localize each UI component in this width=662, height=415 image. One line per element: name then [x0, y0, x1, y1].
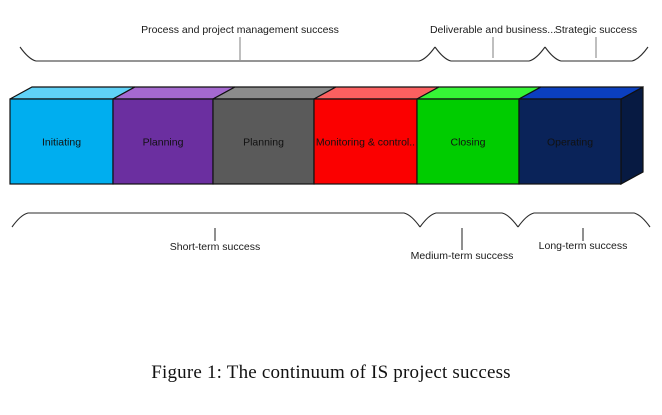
bottom-term-brace: [420, 213, 518, 227]
figure-caption: Figure 1: The continuum of IS project su…: [0, 362, 662, 384]
top-success-brace-label: Process and project management success: [141, 24, 339, 36]
bottom-term-brace-label: Long-term success: [539, 240, 628, 252]
cube-top-face: [519, 87, 643, 99]
figure-container: Process and project management successDe…: [0, 0, 662, 415]
cube-label: Planning: [143, 137, 184, 149]
cube-row: InitiatingPlanningPlanningMonitoring & c…: [10, 87, 643, 184]
bottom-term-brace-label: Short-term success: [170, 241, 260, 253]
bottom-term-brace: [518, 213, 650, 227]
continuum-diagram: Process and project management successDe…: [0, 0, 662, 340]
cube-label: Operating: [547, 137, 593, 149]
bottom-term-brace: [12, 213, 420, 227]
cube-label: Closing: [450, 137, 485, 149]
top-success-brace-label: Strategic success: [555, 24, 637, 36]
cube-label: Planning: [243, 137, 284, 149]
top-braces-group: Process and project management successDe…: [20, 24, 648, 61]
top-success-brace-label: Deliverable and business...: [430, 24, 556, 36]
cube-label: Monitoring & control..: [316, 137, 415, 149]
cube-label: Initiating: [42, 137, 81, 149]
top-success-brace: [20, 47, 435, 61]
bottom-term-brace-label: Medium-term success: [411, 250, 514, 262]
top-success-brace: [435, 47, 545, 61]
bottom-braces-group: Short-term successMedium-term successLon…: [12, 213, 650, 262]
cube-side-face: [621, 87, 643, 184]
